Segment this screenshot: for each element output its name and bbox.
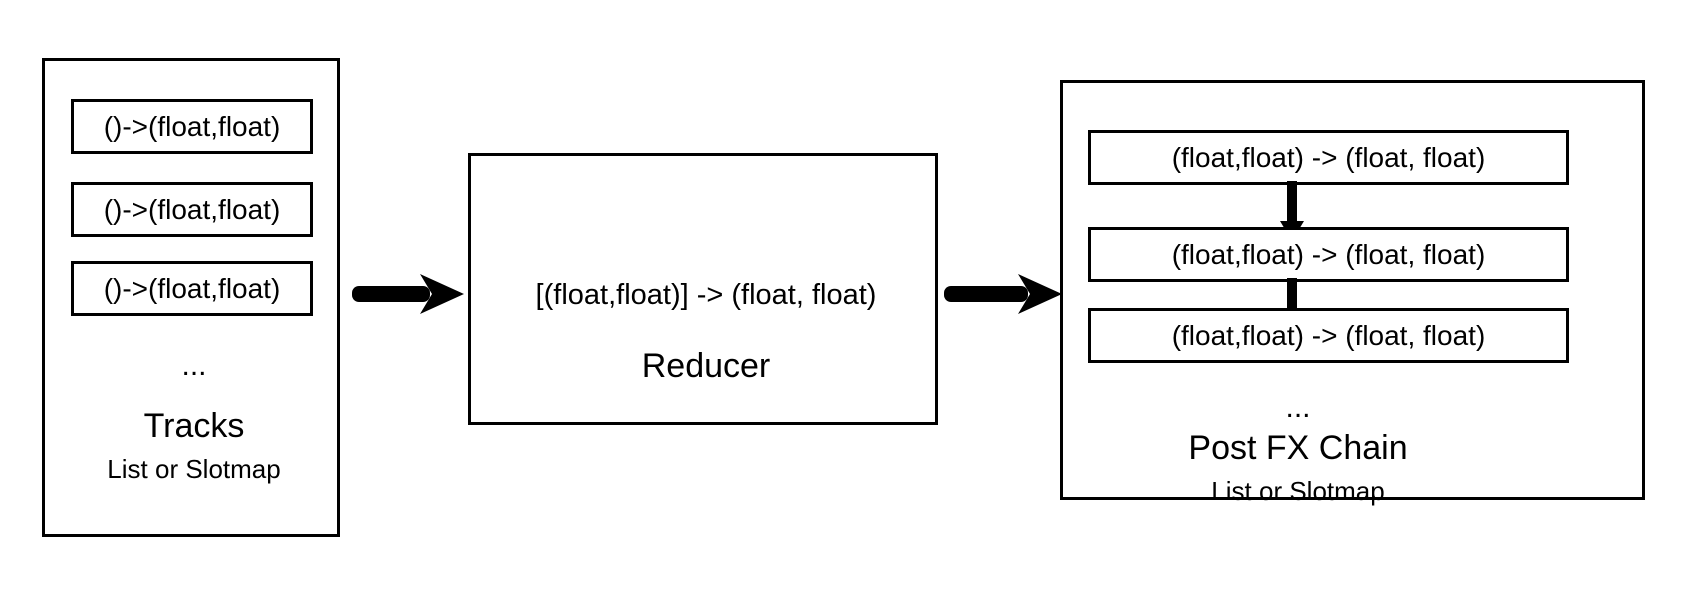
track-item-1-signature: ()->(float,float): [104, 113, 281, 141]
track-item-3[interactable]: ()->(float,float): [71, 261, 313, 316]
postfx-item-2-signature: (float,float) -> (float, float): [1172, 241, 1486, 269]
reducer-title: Reducer: [471, 349, 941, 383]
track-item-2[interactable]: ()->(float,float): [71, 182, 313, 237]
postfx-item-1-signature: (float,float) -> (float, float): [1172, 144, 1486, 172]
arrow-tracks-to-reducer: [352, 272, 464, 316]
track-item-1[interactable]: ()->(float,float): [71, 99, 313, 154]
reducer-panel: [(float,float)] -> (float, float) Reduce…: [468, 153, 938, 425]
track-item-3-signature: ()->(float,float): [104, 275, 281, 303]
reducer-signature: [(float,float)] -> (float, float): [471, 281, 941, 310]
tracks-panel-title: Tracks: [45, 409, 343, 443]
postfx-panel-title: Post FX Chain: [1063, 431, 1533, 465]
postfx-ellipsis: ...: [1063, 393, 1533, 423]
tracks-panel-subtitle: List or Slotmap: [45, 456, 343, 482]
tracks-panel: ()->(float,float) ()->(float,float) ()->…: [42, 58, 340, 537]
postfx-panel-subtitle: List or Slotmap: [1063, 478, 1533, 504]
right-arrow-icon: [944, 274, 1062, 314]
postfx-item-1[interactable]: (float,float) -> (float, float): [1088, 130, 1569, 185]
postfx-panel: (float,float) -> (float, float) (float,f…: [1060, 80, 1645, 500]
diagram-canvas: ()->(float,float) ()->(float,float) ()->…: [0, 0, 1694, 600]
arrow-reducer-to-postfx: [944, 272, 1062, 316]
right-arrow-icon: [352, 274, 464, 314]
postfx-item-3-signature: (float,float) -> (float, float): [1172, 322, 1486, 350]
postfx-item-3[interactable]: (float,float) -> (float, float): [1088, 308, 1569, 363]
postfx-item-2[interactable]: (float,float) -> (float, float): [1088, 227, 1569, 282]
track-item-2-signature: ()->(float,float): [104, 196, 281, 224]
tracks-ellipsis: ...: [45, 351, 343, 381]
